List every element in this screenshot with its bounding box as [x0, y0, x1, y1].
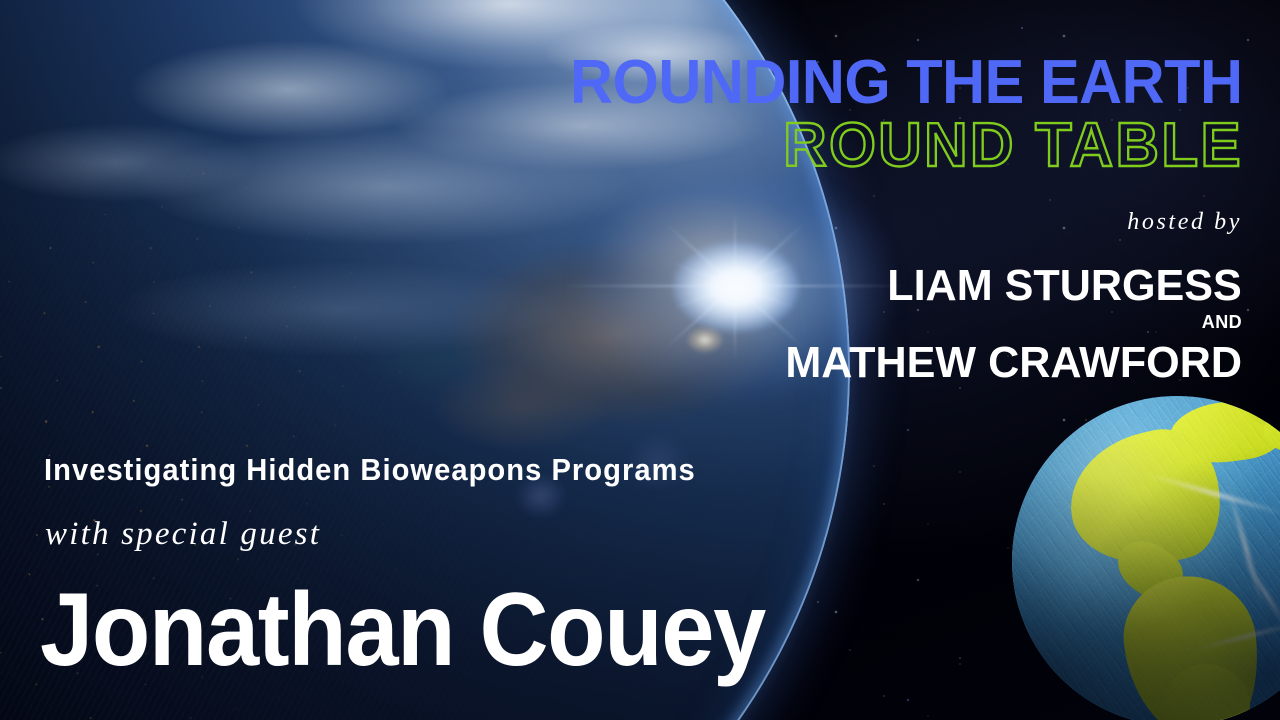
episode-topic: Investigating Hidden Bioweapons Programs — [44, 452, 696, 488]
poster-canvas: ROUNDING THE EARTH ROUND TABLE hosted by… — [0, 0, 1280, 720]
sun-flare-icon — [735, 286, 737, 288]
special-guest-label: with special guest — [45, 516, 321, 553]
show-title-line2: ROUND TABLE — [783, 115, 1243, 177]
host-name-secondary: MATHEW CRAWFORD — [785, 338, 1242, 388]
hosted-by-label: hosted by — [1127, 209, 1242, 236]
show-title-line1: ROUNDING THE EARTH — [570, 52, 1243, 114]
special-guest-name: Jonathan Couey — [40, 576, 765, 685]
lens-flare-spot-icon — [688, 328, 722, 352]
host-conjunction: AND — [1202, 312, 1242, 333]
host-name-primary: LIAM STURGESS — [887, 261, 1242, 311]
